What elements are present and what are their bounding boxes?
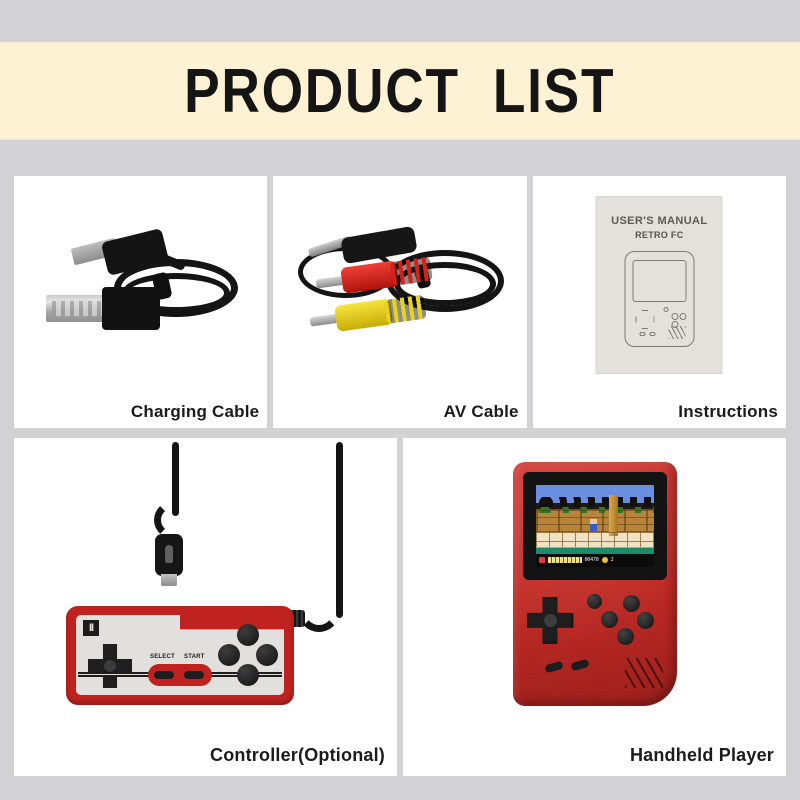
controller-action-button	[218, 644, 240, 666]
product-label: Controller(Optional)	[210, 745, 385, 766]
manual-subtitle: RETRO FC	[635, 230, 683, 240]
controller-select-label: SELECT	[150, 654, 175, 660]
product-label: Handheld Player	[630, 745, 774, 766]
handheld-player-image: 00470 2	[403, 438, 786, 742]
controller-action-button	[237, 624, 259, 646]
product-list-page: PRODUCT LIST Charging Cable	[0, 0, 800, 800]
page-title: PRODUCT LIST	[184, 56, 615, 127]
product-cell-charging-cable[interactable]: Charging Cable	[14, 176, 267, 428]
product-label: AV Cable	[444, 402, 519, 422]
controller-art: II SELECT START	[14, 438, 397, 742]
product-cell-handheld-player[interactable]: 00470 2	[403, 438, 786, 776]
product-cell-instructions[interactable]: USER'S MANUAL RETRO FC Instru	[533, 176, 786, 428]
product-label: Charging Cable	[131, 402, 259, 422]
controller-start-button	[184, 671, 204, 679]
handheld-art: 00470 2	[513, 462, 677, 706]
handheld-action-button	[637, 612, 654, 629]
controller-select-start-plate	[148, 664, 212, 686]
instructions-image: USER'S MANUAL RETRO FC	[533, 176, 786, 394]
handheld-small-button	[587, 594, 602, 609]
game-pillar	[609, 495, 618, 536]
hud-lives: 2	[611, 557, 614, 563]
manual-screen-outline	[632, 260, 686, 302]
game-character	[590, 519, 597, 531]
controller-cable-right	[336, 442, 343, 618]
hud-coin-icon	[602, 557, 608, 563]
manual-speaker-outline	[668, 326, 685, 339]
manual-button-outline	[663, 307, 668, 312]
controller-select-button	[154, 671, 174, 679]
game-treeline	[536, 497, 654, 507]
manual-title: USER'S MANUAL	[611, 215, 707, 227]
controller-image: II SELECT START	[14, 438, 397, 742]
handheld-speaker-grill	[625, 658, 663, 688]
manual-cover: USER'S MANUAL RETRO FC	[597, 197, 722, 373]
charging-cable-image	[14, 176, 267, 394]
manual-console-drawing	[624, 251, 694, 347]
av-cable-image	[273, 176, 526, 394]
hud-health-bar	[548, 557, 582, 563]
usb-symbol-icon	[165, 545, 173, 563]
av-cable-art	[290, 224, 510, 354]
handheld-action-button	[623, 595, 640, 612]
manual-dpad-outline	[635, 310, 654, 329]
product-label: Instructions	[678, 402, 778, 422]
controller-shell: II SELECT START	[66, 606, 294, 705]
manual-button-outline	[679, 313, 686, 320]
usb-a-housing	[102, 287, 160, 330]
product-cell-av-cable[interactable]: AV Cable	[273, 176, 526, 428]
handheld-action-button	[617, 628, 634, 645]
usb-cable-art	[36, 229, 246, 349]
micro-usb-plug	[155, 534, 183, 576]
product-cell-controller[interactable]: II SELECT START	[14, 438, 397, 776]
handheld-action-button	[601, 611, 618, 628]
manual-button-outline	[671, 313, 678, 320]
product-row-top: Charging Cable	[14, 176, 786, 428]
game-hud: 00470 2	[536, 554, 654, 567]
controller-player-badge: II	[83, 620, 99, 636]
product-row-bottom: II SELECT START	[14, 438, 786, 776]
game-brick-platform	[536, 532, 654, 547]
header-banner: PRODUCT LIST	[0, 42, 800, 140]
handheld-screen-bezel: 00470 2	[523, 472, 667, 580]
manual-select-outline	[639, 332, 645, 336]
hud-score: 00470	[585, 557, 599, 563]
hud-health-icon	[539, 557, 545, 563]
manual-start-outline	[649, 332, 655, 336]
rca-yellow-connector	[334, 306, 338, 332]
controller-start-label: START	[184, 654, 205, 660]
controller-action-button	[237, 664, 259, 686]
controller-action-button	[256, 644, 278, 666]
handheld-screen: 00470 2	[536, 485, 654, 567]
rca-yellow-strain-relief	[384, 295, 427, 324]
